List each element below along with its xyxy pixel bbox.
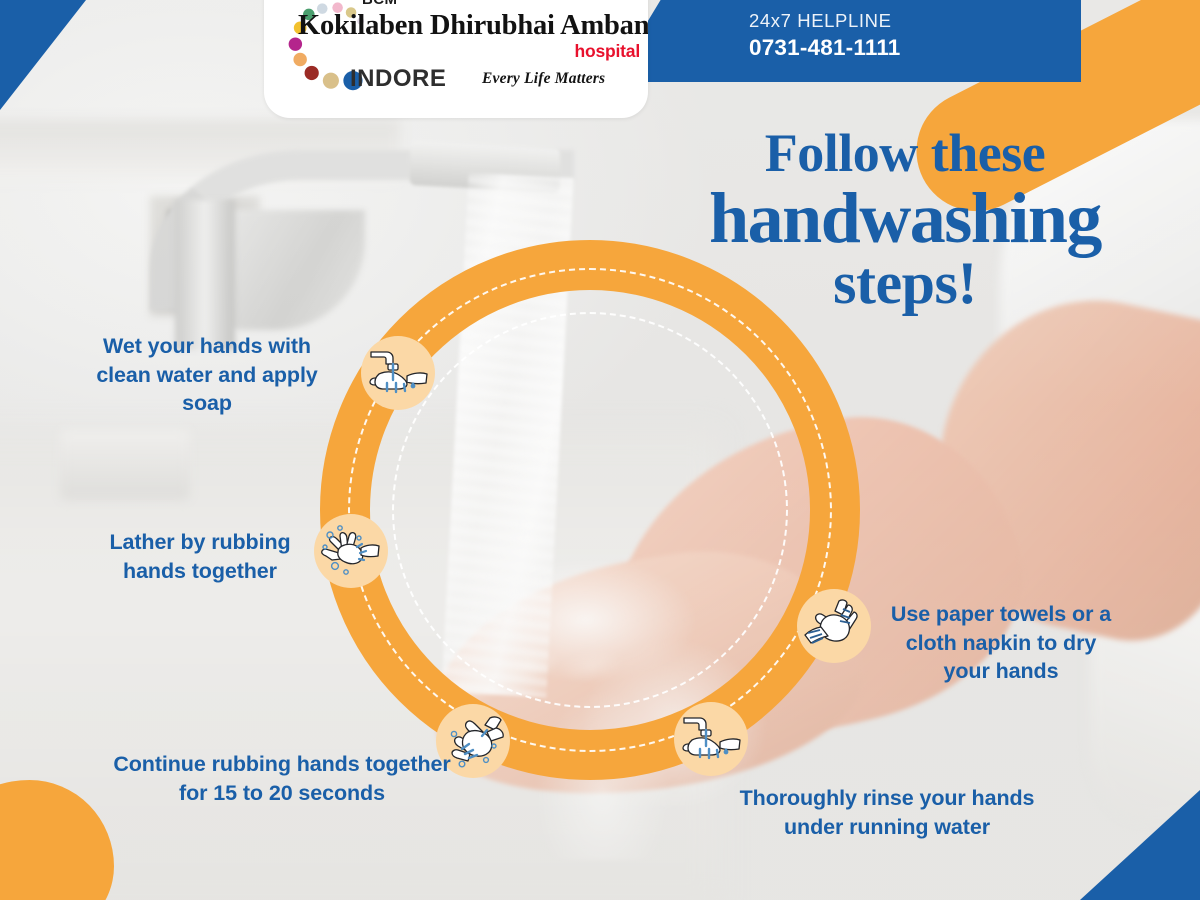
step-5-icon-bubble <box>797 589 871 663</box>
steps-ring <box>320 240 860 780</box>
step-5-caption: Use paper towels or a cloth napkin to dr… <box>884 600 1118 686</box>
dashed-circle-inner <box>392 312 788 708</box>
logo-bcm-text: BCM <box>362 0 397 8</box>
blue-triangle-bottom-right <box>1080 790 1200 900</box>
helpline-label: 24x7 HELPLINE <box>749 10 892 32</box>
headline-line-2: handwashing <box>690 184 1120 253</box>
blue-triangle-top-left <box>0 0 86 110</box>
headline-line-3: steps! <box>690 255 1120 313</box>
helpline-banner: 24x7 HELPLINE 0731-481-1111 <box>611 0 1081 82</box>
logo-tagline: Every Life Matters <box>482 70 605 88</box>
step-3-caption: Continue rubbing hands together for 15 t… <box>110 750 454 807</box>
hospital-logo-card: BCM Kokilaben Dhirubhai Ambani hospital … <box>264 0 648 118</box>
handwashing-infographic-poster: Wet your hands with clean water and appl… <box>0 0 1200 900</box>
logo-hospital-name: Kokilaben Dhirubhai Ambani <box>298 10 648 42</box>
hands-under-faucet-icon <box>363 338 433 408</box>
helpline-number[interactable]: 0731-481-1111 <box>749 35 901 61</box>
headline-line-1: Follow these <box>690 128 1120 180</box>
hands-lathering-soap-icon <box>316 516 386 586</box>
rinsing-hands-faucet-icon <box>676 704 746 774</box>
page-title: Follow these handwashing steps! <box>690 128 1120 313</box>
step-1-icon-bubble <box>361 336 435 410</box>
step-4-icon-bubble <box>674 702 748 776</box>
logo-hospital-word: hospital <box>575 41 641 62</box>
drying-hands-towel-icon <box>799 591 869 661</box>
step-1-caption: Wet your hands with clean water and appl… <box>78 332 336 418</box>
step-4-caption: Thoroughly rinse your hands under runnin… <box>718 784 1056 841</box>
logo-city: INDORE <box>350 65 446 93</box>
step-2-icon-bubble <box>314 514 388 588</box>
step-2-caption: Lather by rubbing hands together <box>94 528 306 585</box>
